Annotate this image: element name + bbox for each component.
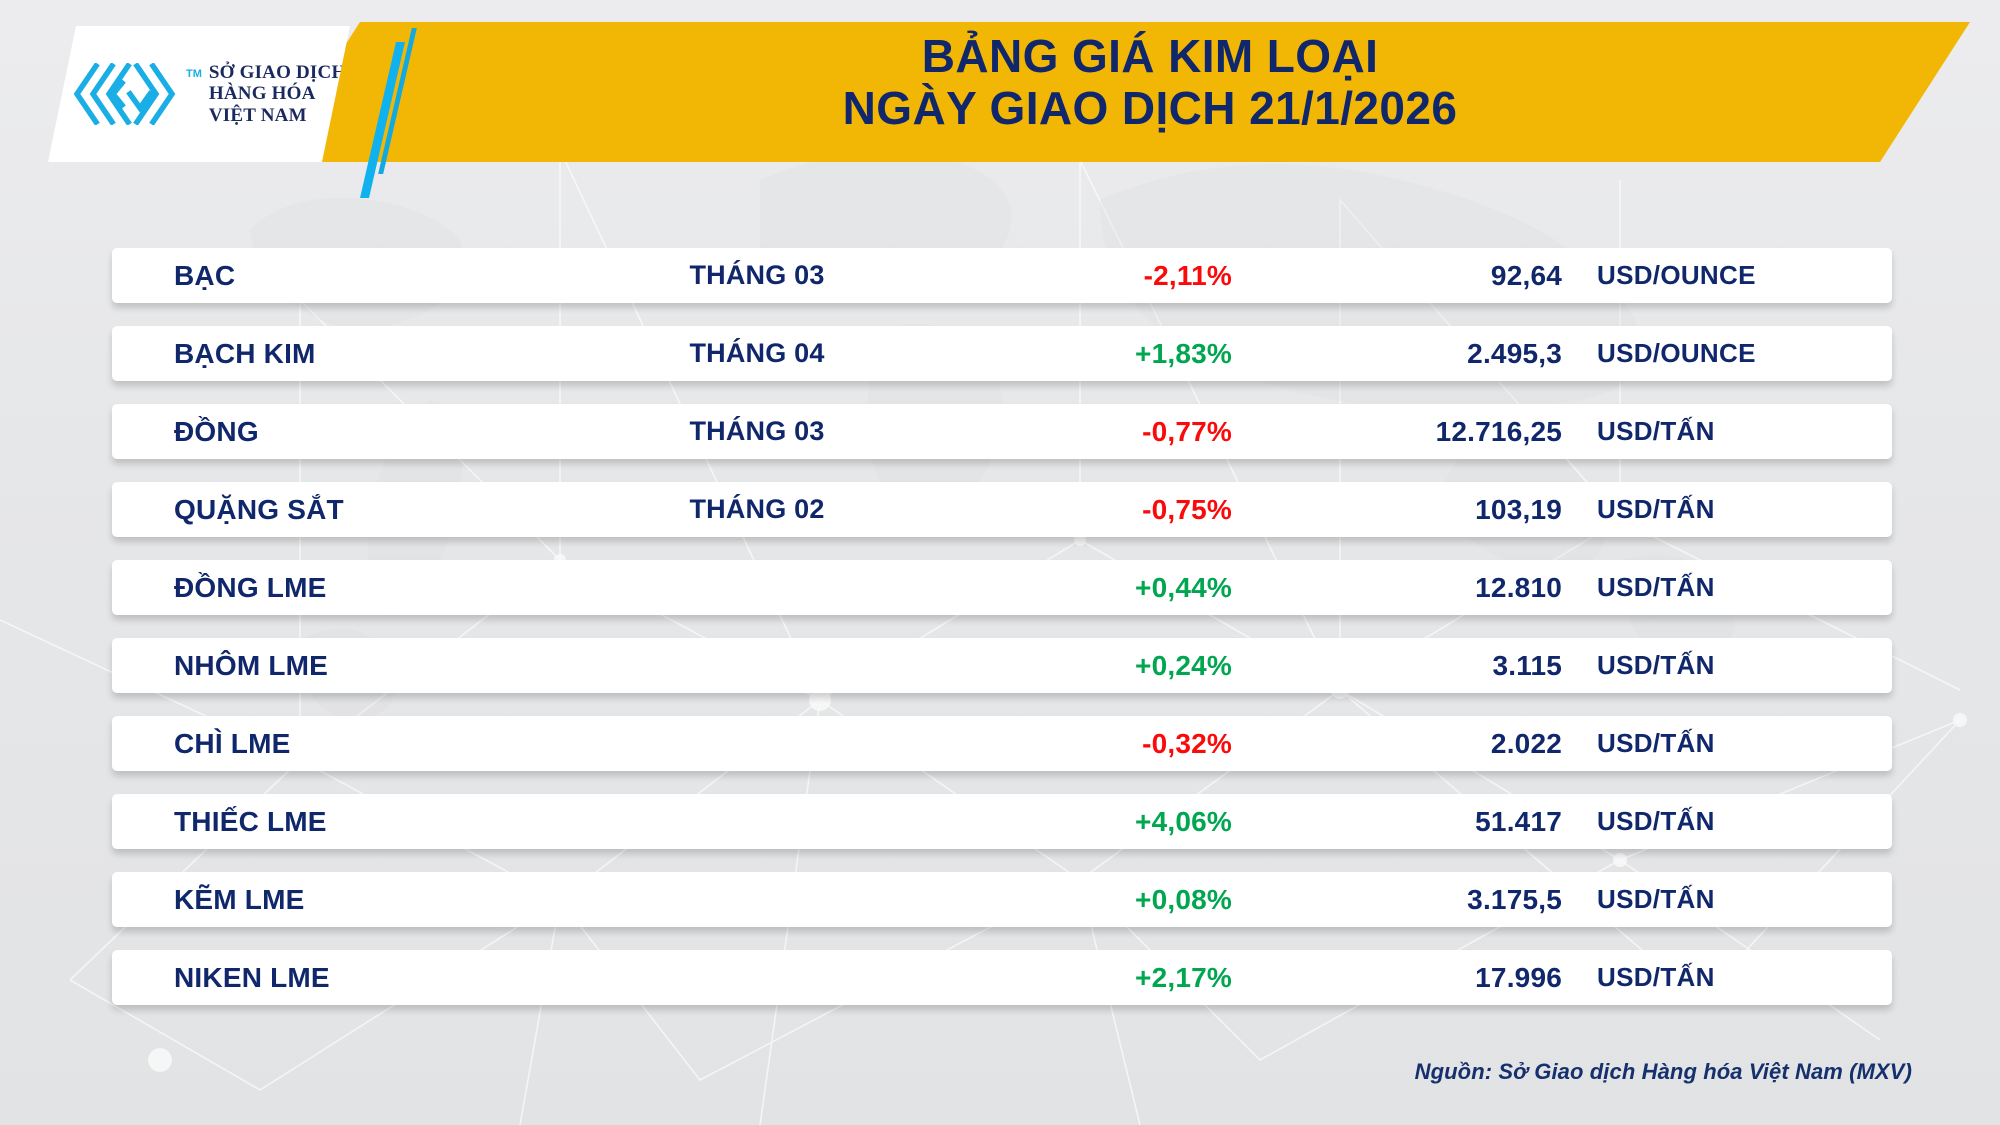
- title-line-2: NGÀY GIAO DỊCH 21/1/2026: [560, 82, 1740, 134]
- table-row[interactable]: NIKEN LME+2,17%17.996USD/TẤN: [112, 950, 1892, 1005]
- cell-unit: USD/TẤN: [1597, 806, 1715, 837]
- cell-commodity-name: QUẶNG SẮT: [174, 494, 344, 526]
- cell-commodity-name: KẼM LME: [174, 884, 305, 916]
- cell-change-percent: +4,06%: [957, 806, 1232, 838]
- table-row[interactable]: BẠCH KIMTHÁNG 04+1,83%2.495,3USD/OUNCE: [112, 326, 1892, 381]
- cell-price: 12.810: [1252, 572, 1562, 604]
- cell-change-percent: -0,32%: [957, 728, 1232, 760]
- table-row[interactable]: CHÌ LME-0,32%2.022USD/TẤN: [112, 716, 1892, 771]
- table-row[interactable]: ĐỒNGTHÁNG 03-0,77%12.716,25USD/TẤN: [112, 404, 1892, 459]
- cell-unit: USD/TẤN: [1597, 416, 1715, 447]
- cell-contract-month: THÁNG 02: [622, 494, 892, 525]
- cell-price: 92,64: [1252, 260, 1562, 292]
- cell-commodity-name: BẠCH KIM: [174, 338, 316, 370]
- cell-price: 2.022: [1252, 728, 1562, 760]
- cell-commodity-name: NIKEN LME: [174, 962, 330, 994]
- cell-commodity-name: CHÌ LME: [174, 728, 291, 760]
- cell-unit: USD/TẤN: [1597, 572, 1715, 603]
- table-row[interactable]: KẼM LME+0,08%3.175,5USD/TẤN: [112, 872, 1892, 927]
- cell-change-percent: +0,08%: [957, 884, 1232, 916]
- cell-price: 3.175,5: [1252, 884, 1562, 916]
- table-row[interactable]: QUẶNG SẮTTHÁNG 02-0,75%103,19USD/TẤN: [112, 482, 1892, 537]
- trademark-icon: TM: [186, 68, 202, 80]
- cell-contract-month: THÁNG 04: [622, 338, 892, 369]
- cell-unit: USD/OUNCE: [1597, 260, 1756, 291]
- cell-change-percent: +0,44%: [957, 572, 1232, 604]
- cell-price: 12.716,25: [1252, 416, 1562, 448]
- cell-contract-month: THÁNG 03: [622, 416, 892, 447]
- cell-commodity-name: THIẾC LME: [174, 806, 327, 838]
- cell-unit: USD/TẤN: [1597, 728, 1715, 759]
- cell-commodity-name: ĐỒNG: [174, 416, 259, 448]
- cell-unit: USD/TẤN: [1597, 884, 1715, 915]
- cell-commodity-name: ĐỒNG LME: [174, 572, 326, 604]
- header: TM SỞ GIAO DỊCH HÀNG HÓA VIỆT NAM BẢNG G…: [0, 0, 2000, 182]
- cell-unit: USD/OUNCE: [1597, 338, 1756, 369]
- source-note: Nguồn: Sở Giao dịch Hàng hóa Việt Nam (M…: [1415, 1059, 1912, 1085]
- cell-price: 103,19: [1252, 494, 1562, 526]
- cell-change-percent: -2,11%: [957, 260, 1232, 292]
- cell-unit: USD/TẤN: [1597, 962, 1715, 993]
- price-table: BẠCTHÁNG 03-2,11%92,64USD/OUNCEBẠCH KIMT…: [112, 248, 1892, 1028]
- cell-commodity-name: BẠC: [174, 260, 235, 292]
- mxv-logo-icon: [74, 63, 179, 125]
- cell-price: 2.495,3: [1252, 338, 1562, 370]
- logo-wordmark: SỞ GIAO DỊCH HÀNG HÓA VIỆT NAM: [209, 62, 347, 127]
- table-row[interactable]: BẠCTHÁNG 03-2,11%92,64USD/OUNCE: [112, 248, 1892, 303]
- table-row[interactable]: NHÔM LME+0,24%3.115USD/TẤN: [112, 638, 1892, 693]
- cell-price: 3.115: [1252, 650, 1562, 682]
- cell-change-percent: -0,77%: [957, 416, 1232, 448]
- cell-change-percent: +0,24%: [957, 650, 1232, 682]
- cell-change-percent: +2,17%: [957, 962, 1232, 994]
- logo-line-2: HÀNG HÓA: [209, 83, 347, 105]
- cell-price: 17.996: [1252, 962, 1562, 994]
- cell-unit: USD/TẤN: [1597, 650, 1715, 681]
- table-row[interactable]: ĐỒNG LME+0,44%12.810USD/TẤN: [112, 560, 1892, 615]
- title-line-1: BẢNG GIÁ KIM LOẠI: [560, 30, 1740, 82]
- table-row[interactable]: THIẾC LME+4,06%51.417USD/TẤN: [112, 794, 1892, 849]
- logo-line-3: VIỆT NAM: [209, 105, 347, 127]
- cell-unit: USD/TẤN: [1597, 494, 1715, 525]
- cell-change-percent: -0,75%: [957, 494, 1232, 526]
- cell-contract-month: THÁNG 03: [622, 260, 892, 291]
- logo-line-1: SỞ GIAO DỊCH: [209, 62, 347, 84]
- cell-price: 51.417: [1252, 806, 1562, 838]
- logo-card: TM SỞ GIAO DỊCH HÀNG HÓA VIỆT NAM: [48, 26, 350, 162]
- cell-change-percent: +1,83%: [957, 338, 1232, 370]
- cell-commodity-name: NHÔM LME: [174, 650, 328, 682]
- infographic-canvas: TM SỞ GIAO DỊCH HÀNG HÓA VIỆT NAM BẢNG G…: [0, 0, 2000, 1125]
- page-title: BẢNG GIÁ KIM LOẠI NGÀY GIAO DỊCH 21/1/20…: [560, 30, 1740, 135]
